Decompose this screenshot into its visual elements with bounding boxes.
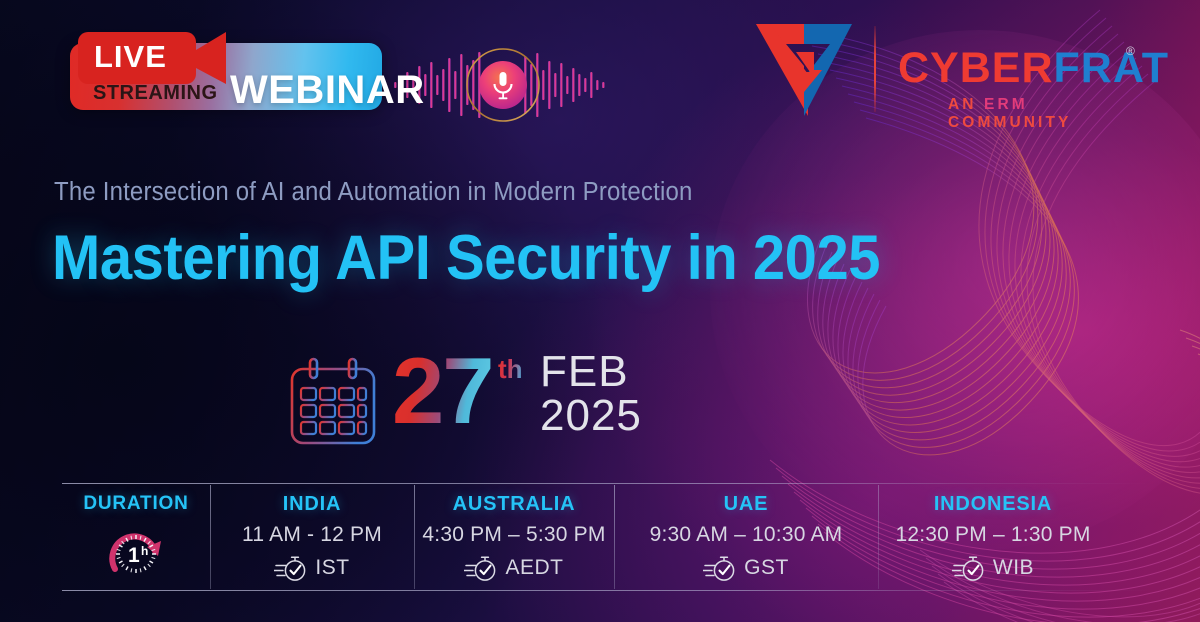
webinar-label: WEBINAR [230,68,425,113]
timezone-name: INDONESIA [878,493,1108,516]
logo-name-frat: FRAT [1054,44,1169,92]
event-day-suffix: th [498,354,523,385]
webinar-banner: LIVE STREAMING WEBINAR [0,0,1200,622]
timezone-column-india: INDIA 11 AM - 12 PM IS [210,483,414,591]
timezone-column-australia: AUSTRALIA 4:30 PM – 5:30 PM [414,483,614,591]
streaming-label: STREAMING [93,82,218,105]
live-webinar-badge: LIVE STREAMING WEBINAR [70,30,382,110]
stopwatch-check-icon [952,553,986,583]
event-year: 2025 [540,394,642,439]
timezone-time: 9:30 AM – 10:30 AM [614,523,878,547]
cyberfrat-logo: CYBERFRAT ® AN ERM COMMUNITY [752,22,1150,118]
logo-divider [874,26,876,112]
stopwatch-duration-icon: 1 h [103,523,169,583]
logo-name-cyber: CYBER [898,44,1054,92]
tagline-erm: ERM [984,96,1028,113]
timezone-abbr: IST [315,556,349,580]
timezone-name: INDIA [210,493,414,516]
calendar-icon [288,356,378,448]
registered-trademark-icon: ® [1126,44,1135,58]
timezone-time: 4:30 PM – 5:30 PM [414,523,614,547]
timezone-name: UAE [614,493,878,516]
event-date: 27 th FEB 2025 [288,348,708,456]
stopwatch-check-icon [703,553,737,583]
audio-waveform-icon [392,44,614,126]
event-day: 27 [392,344,493,438]
timezone-time: 11 AM - 12 PM [210,523,414,547]
timezone-bar: DURATION [62,483,1152,591]
timezone-time: 12:30 PM – 1:30 PM [878,523,1108,547]
event-month: FEB [540,350,629,395]
timezone-name: AUSTRALIA [414,493,614,516]
timezone-abbr: AEDT [505,556,563,580]
duration-label: DURATION [62,493,210,515]
logo-tagline: AN ERM COMMUNITY [948,96,1150,132]
timezone-column-uae: UAE 9:30 AM – 10:30 AM [614,483,878,591]
tagline-post: COMMUNITY [948,114,1071,131]
duration-column: DURATION [62,483,210,591]
tagline-pre: AN [948,96,984,113]
timezone-column-indonesia: INDONESIA 12:30 PM – 1:30 PM [878,483,1108,591]
duration-value: 1 [128,544,140,567]
timezone-abbr: WIB [993,556,1034,580]
cyberfrat-triangle-logo-icon [752,22,856,118]
webinar-subtitle: The Intersection of AI and Automation in… [54,178,692,207]
stopwatch-check-icon [464,553,498,583]
timezone-abbr: GST [744,556,789,580]
live-label: LIVE [94,36,194,78]
page-title: Mastering API Security in 2025 [52,222,880,294]
stopwatch-check-icon [274,553,308,583]
duration-unit: h [141,544,148,558]
